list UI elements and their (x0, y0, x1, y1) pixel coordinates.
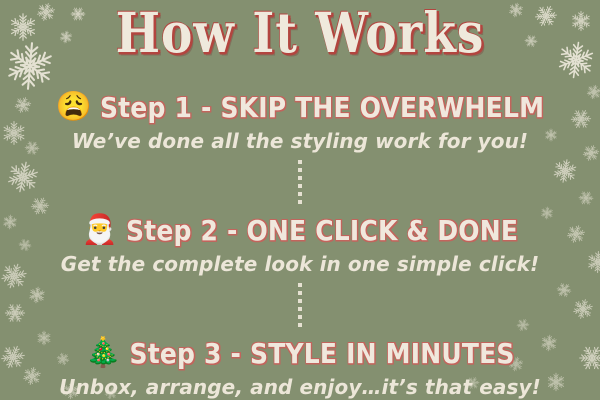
christmas-tree-emoji: 🎄 (85, 339, 121, 368)
weary-face-emoji: 😩 (56, 93, 92, 122)
steps-list: 😩Step 1 - SKIP THE OVERWHELMWe’ve done a… (0, 86, 600, 399)
step-block: 🎅Step 2 - ONE CLICK & DONEGet the comple… (0, 209, 600, 276)
divider-dot (298, 168, 302, 172)
divider-dot (298, 291, 302, 295)
page-title: How It Works (116, 1, 485, 66)
step-subtitle: We’ve done all the styling work for you! (0, 129, 600, 153)
step-heading-row: 🎄Step 3 - STYLE IN MINUTES (0, 332, 600, 374)
divider-dot (298, 315, 302, 319)
how-it-works-poster: How It Works 😩Step 1 - SKIP THE OVERWHEL… (0, 0, 600, 400)
title-container: How It Works (0, 6, 600, 80)
step-heading: Step 3 - STYLE IN MINUTES (130, 337, 515, 369)
divider-dot (298, 192, 302, 196)
step-divider (0, 153, 600, 209)
divider-dot (298, 200, 302, 204)
santa-claus-emoji: 🎅 (82, 216, 118, 245)
divider-dot (298, 160, 302, 164)
step-divider (0, 276, 600, 332)
step-heading: Step 2 - ONE CLICK & DONE (126, 214, 518, 246)
step-heading-row: 😩Step 1 - SKIP THE OVERWHELM (0, 86, 600, 128)
divider-dot (298, 184, 302, 188)
divider-dot (298, 176, 302, 180)
step-block: 😩Step 1 - SKIP THE OVERWHELMWe’ve done a… (0, 86, 600, 153)
step-subtitle: Get the complete look in one simple clic… (0, 252, 600, 276)
divider-dot (298, 283, 302, 287)
divider-dot (298, 299, 302, 303)
step-block: 🎄Step 3 - STYLE IN MINUTESUnbox, arrange… (0, 332, 600, 399)
step-heading-row: 🎅Step 2 - ONE CLICK & DONE (0, 209, 600, 251)
divider-dot (298, 307, 302, 311)
step-subtitle: Unbox, arrange, and enjoy…it’s that easy… (0, 375, 600, 399)
step-heading: Step 1 - SKIP THE OVERWHELM (100, 91, 544, 123)
divider-dot (298, 323, 302, 327)
